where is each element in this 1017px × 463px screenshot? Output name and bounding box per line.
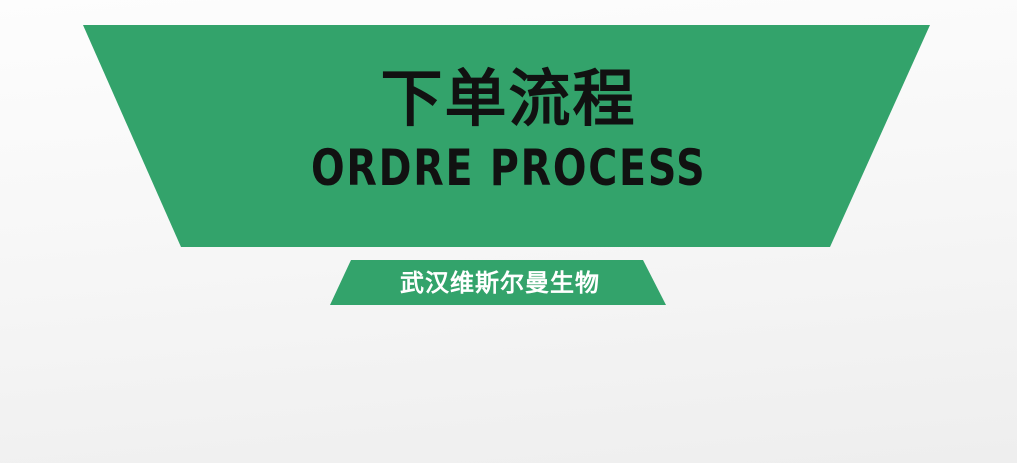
company-banner: 武汉维斯尔曼生物: [320, 255, 680, 310]
company-banner-shape: [320, 255, 680, 310]
order-process-poster: 下单流程 ORDRE PROCESS 武汉维斯尔曼生物: [0, 0, 1017, 463]
hero-trapezoid-shape: [0, 0, 1017, 250]
hero-banner: 下单流程 ORDRE PROCESS: [0, 0, 1017, 250]
process-flow: [0, 328, 1017, 440]
